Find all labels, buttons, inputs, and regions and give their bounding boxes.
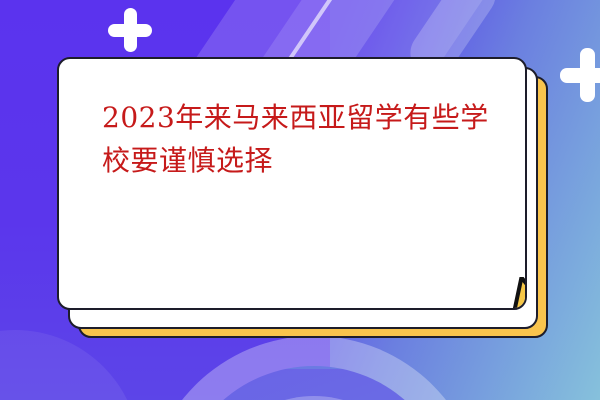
poster-canvas: 2023年来马来西亚留学有些学校要谨慎选择	[0, 0, 600, 400]
cursor-arrow-icon	[507, 277, 527, 310]
plus-icon	[108, 8, 152, 52]
plus-icon	[560, 48, 600, 102]
plus-icon-horizontal-bar	[560, 68, 600, 83]
plus-icon-horizontal-bar	[108, 24, 152, 37]
card-front-layer: 2023年来马来西亚留学有些学校要谨慎选择	[57, 57, 527, 310]
headline-text: 2023年来马来西亚留学有些学校要谨慎选择	[102, 96, 492, 183]
